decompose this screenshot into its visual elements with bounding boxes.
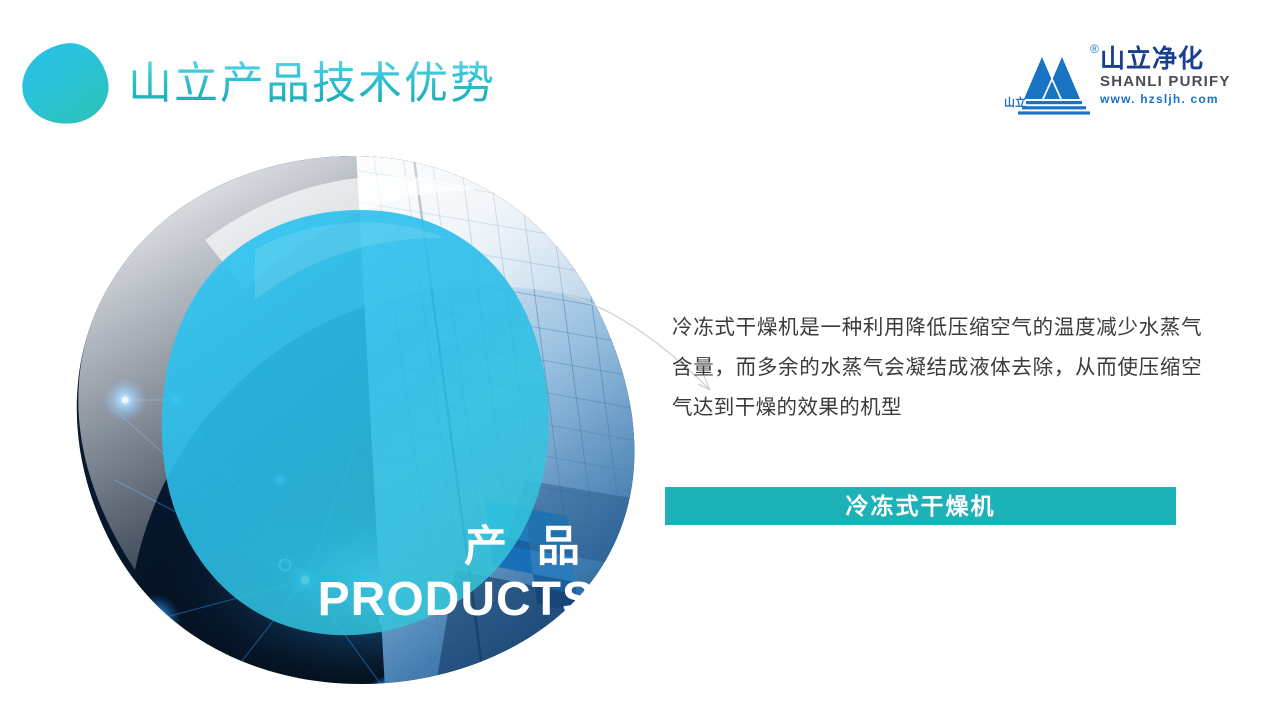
product-description: 冷冻式干燥机是一种利用降低压缩空气的温度减少水蒸气含量，而多余的水蒸气会凝结成液… (672, 308, 1202, 428)
hero-overlay-text: 产 品 PRODUCTS (305, 522, 595, 628)
hero-title-cn: 产 品 (305, 522, 595, 572)
slide-root: 山立产品技术优势 ® 山立 山立净化 SHANLI PURIFY www. hz… (0, 0, 1280, 720)
logo-company-cn: 山立净化 (1100, 45, 1240, 73)
page-title: 山立产品技术优势 (128, 58, 496, 110)
logo-mark-label: 山立 (1004, 97, 1026, 110)
product-name-banner[interactable]: 冷冻式干燥机 (665, 487, 1176, 525)
products-hero-graphic: 产 品 PRODUCTS (55, 150, 655, 690)
product-name-label: 冷冻式干燥机 (846, 493, 996, 519)
registered-trademark-icon: ® (1090, 43, 1099, 55)
company-logo: ® 山立 山立净化 SHANLI PURIFY www. hzsljh. com (1004, 41, 1236, 123)
logo-company-en: SHANLI PURIFY (1100, 73, 1240, 91)
hero-title-en: PRODUCTS (305, 572, 595, 628)
logo-website: www. hzsljh. com (1100, 91, 1240, 107)
teal-blob-icon (17, 38, 113, 129)
logo-text-block: 山立净化 SHANLI PURIFY www. hzsljh. com (1100, 45, 1240, 107)
